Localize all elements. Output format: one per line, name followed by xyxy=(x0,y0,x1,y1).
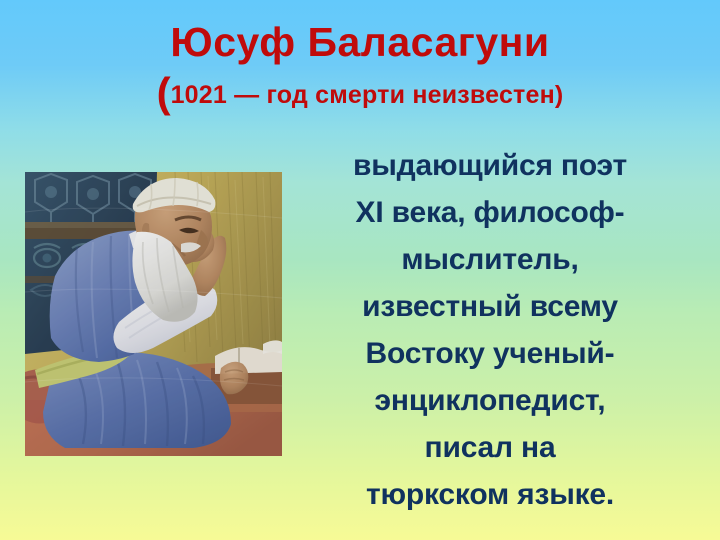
body-line-6: энциклопедист, xyxy=(288,377,692,424)
body-line-5: Востоку ученый- xyxy=(288,330,692,377)
body-line-3: мыслитель, xyxy=(288,236,692,283)
page-title: Юсуф Баласагуни (1021 — год смерти неизв… xyxy=(0,22,720,114)
title-line-secondary: (1021 — год смерти неизвестен) xyxy=(0,72,720,114)
body-line-4: известный всему xyxy=(288,283,692,330)
open-parenthesis: ( xyxy=(157,69,171,116)
portrait-illustration xyxy=(25,172,282,456)
title-line-primary: Юсуф Баласагуни xyxy=(0,22,720,63)
body-line-1: выдающийся поэт xyxy=(288,142,692,189)
title-subtitle: 1021 — год смерти неизвестен) xyxy=(171,81,564,109)
body-line-7: писал на xyxy=(288,424,692,471)
body-line-8: тюркском языке. xyxy=(288,471,692,518)
slide-canvas: Юсуф Баласагуни (1021 — год смерти неизв… xyxy=(0,0,720,540)
body-paragraph: выдающийся поэт XI века, философ- мыслит… xyxy=(288,142,692,518)
body-line-2: XI века, философ- xyxy=(288,189,692,236)
portrait-image xyxy=(25,172,282,456)
